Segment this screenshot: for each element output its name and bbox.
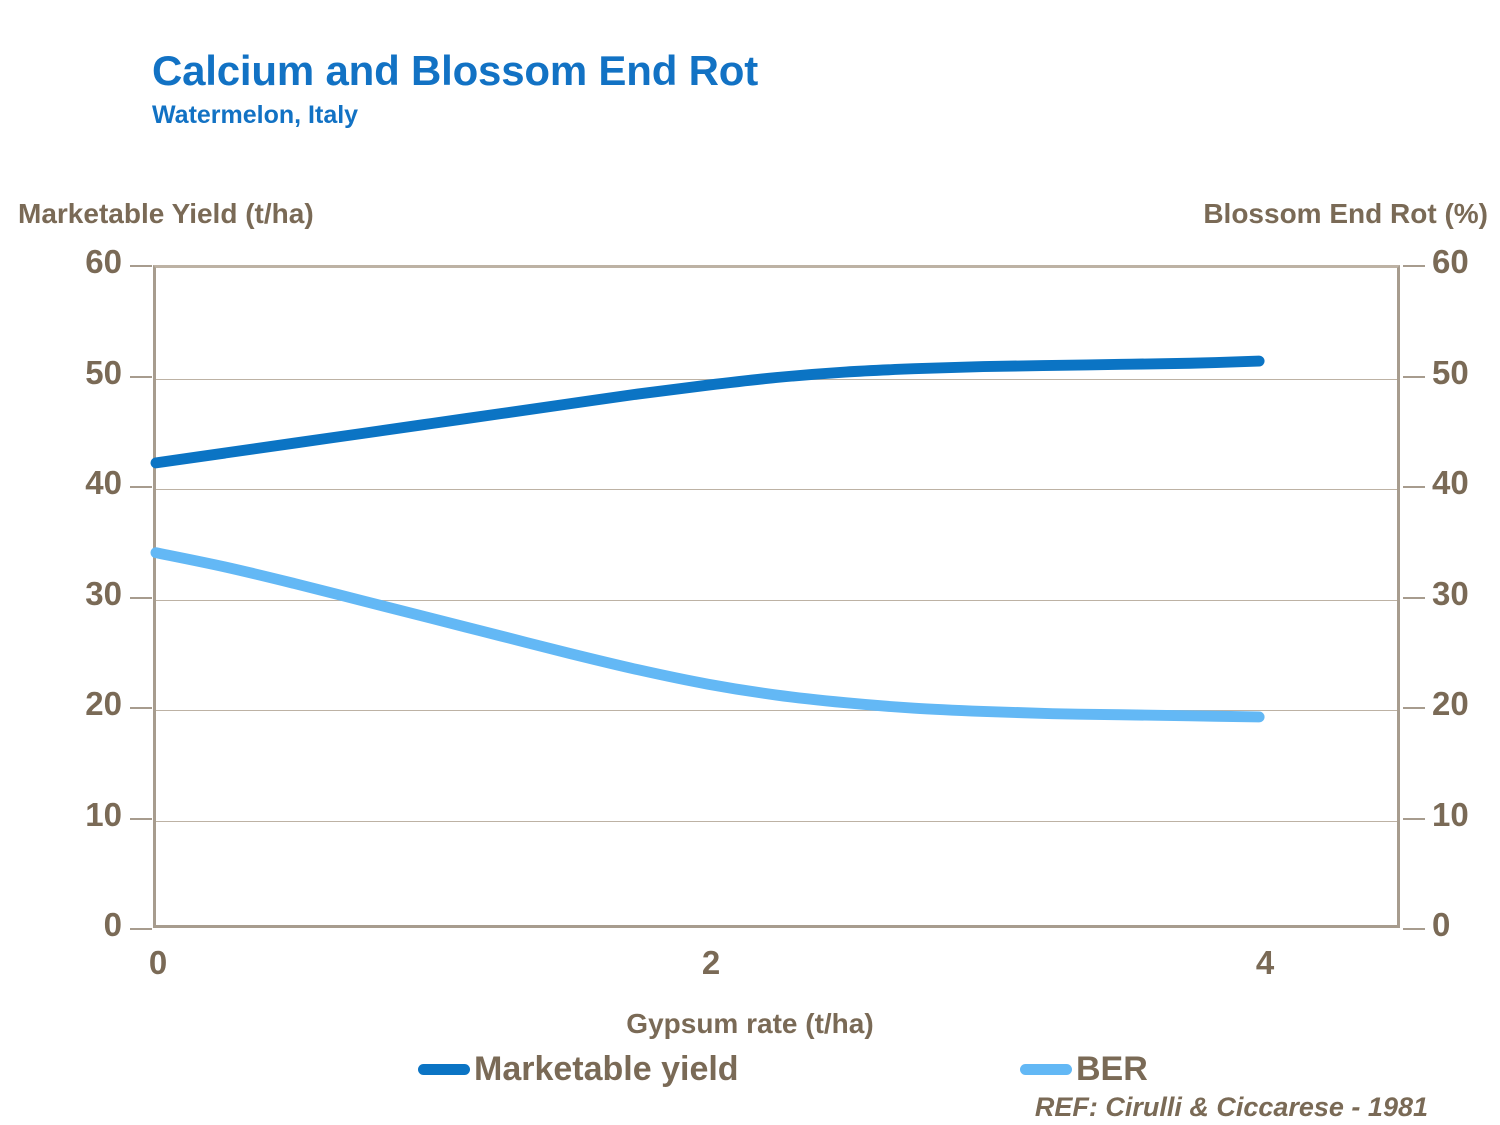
tick-mark-left-60 xyxy=(130,265,152,267)
tick-label-x-4: 4 xyxy=(1256,944,1274,982)
chart-subtitle: Watermelon, Italy xyxy=(152,101,758,130)
legend-label-ber: BER xyxy=(1076,1050,1148,1089)
tick-mark-left-40 xyxy=(130,486,152,488)
chart-legend: Marketable yield BER xyxy=(0,1050,1500,1096)
tick-label-left-20: 20 xyxy=(85,685,122,723)
series-plot xyxy=(156,268,1397,925)
legend-swatch-ber xyxy=(1020,1064,1072,1075)
x-axis-title: Gypsum rate (t/ha) xyxy=(0,1008,1500,1040)
tick-label-left-40: 40 xyxy=(85,464,122,502)
tick-mark-right-50 xyxy=(1403,376,1425,378)
tick-label-right-40: 40 xyxy=(1432,464,1469,502)
tick-label-x-2: 2 xyxy=(702,944,720,982)
tick-mark-right-30 xyxy=(1403,597,1425,599)
title-block: Calcium and Blossom End Rot Watermelon, … xyxy=(152,48,758,130)
tick-label-right-30: 30 xyxy=(1432,575,1469,613)
tick-label-left-60: 60 xyxy=(85,243,122,281)
chart-title: Calcium and Blossom End Rot xyxy=(152,48,758,93)
plot-area xyxy=(153,265,1400,928)
tick-mark-right-20 xyxy=(1403,707,1425,709)
tick-mark-right-40 xyxy=(1403,486,1425,488)
legend-item-marketable-yield: Marketable yield xyxy=(418,1050,739,1089)
chart-container: Calcium and Blossom End Rot Watermelon, … xyxy=(0,0,1500,1125)
legend-swatch-marketable-yield xyxy=(418,1064,470,1075)
legend-item-ber: BER xyxy=(1020,1050,1148,1089)
tick-mark-left-10 xyxy=(130,818,152,820)
right-axis-title: Blossom End Rot (%) xyxy=(1203,198,1488,230)
left-axis-title: Marketable Yield (t/ha) xyxy=(18,198,314,230)
legend-label-marketable-yield: Marketable yield xyxy=(474,1050,739,1089)
series-line-ber xyxy=(156,553,1259,717)
tick-label-right-50: 50 xyxy=(1432,354,1469,392)
tick-label-left-50: 50 xyxy=(85,354,122,392)
tick-label-left-30: 30 xyxy=(85,575,122,613)
tick-label-right-0: 0 xyxy=(1432,906,1450,944)
tick-label-x-0: 0 xyxy=(149,944,167,982)
tick-mark-right-60 xyxy=(1403,265,1425,267)
tick-mark-right-10 xyxy=(1403,818,1425,820)
tick-mark-left-0 xyxy=(130,928,152,930)
series-line-marketable-yield xyxy=(156,361,1259,463)
tick-mark-left-50 xyxy=(130,376,152,378)
tick-mark-left-30 xyxy=(130,597,152,599)
tick-label-right-20: 20 xyxy=(1432,685,1469,723)
tick-label-right-10: 10 xyxy=(1432,796,1469,834)
tick-label-right-60: 60 xyxy=(1432,243,1469,281)
tick-label-left-0: 0 xyxy=(104,906,122,944)
tick-mark-left-20 xyxy=(130,707,152,709)
reference-note: REF: Cirulli & Ciccarese - 1981 xyxy=(1035,1092,1428,1123)
tick-label-left-10: 10 xyxy=(85,796,122,834)
tick-mark-right-0 xyxy=(1403,928,1425,930)
